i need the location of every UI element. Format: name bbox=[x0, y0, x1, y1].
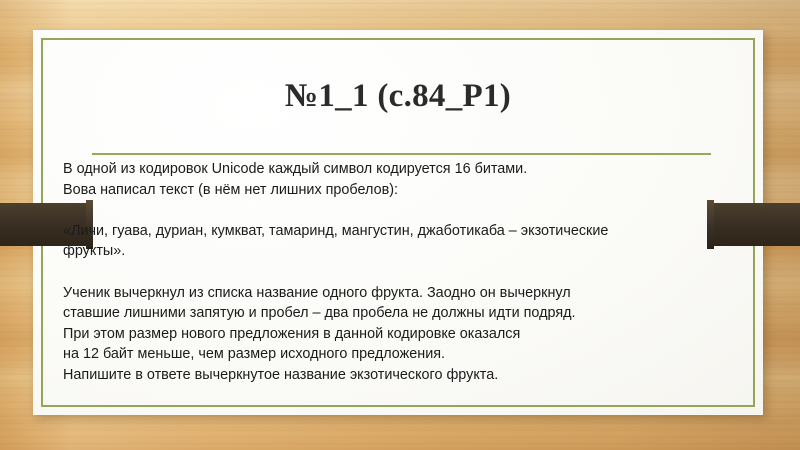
slide-body-text: В одной из кодировок Unicode каждый симв… bbox=[63, 159, 723, 386]
body-line: Напишите в ответе вычеркнутое название э… bbox=[63, 367, 498, 383]
body-line: ставшие лишними запятую и пробел – два п… bbox=[63, 305, 576, 321]
body-line: на 12 байт меньше, чем размер исходного … bbox=[63, 346, 445, 362]
paragraph-quote: «Личи, гуава, дуриан, кумкват, тамаринд,… bbox=[63, 221, 723, 262]
title-divider-rule bbox=[92, 153, 711, 155]
presentation-slide: №1_1 (с.84_Р1) В одной из кодировок Unic… bbox=[0, 0, 800, 450]
slide-title: №1_1 (с.84_Р1) bbox=[60, 76, 736, 116]
body-line: «Личи, гуава, дуриан, кумкват, тамаринд,… bbox=[63, 223, 608, 239]
paragraph-task: Ученик вычеркнул из списка название одно… bbox=[63, 283, 723, 386]
body-line: Вова написал текст (в нём нет лишних про… bbox=[63, 182, 398, 198]
paragraph-intro: В одной из кодировок Unicode каждый симв… bbox=[63, 159, 723, 200]
paragraph-spacer bbox=[63, 262, 723, 283]
paragraph-spacer bbox=[63, 200, 723, 221]
body-line: Ученик вычеркнул из списка название одно… bbox=[63, 285, 571, 301]
body-line: При этом размер нового предложения в дан… bbox=[63, 326, 520, 342]
body-line: В одной из кодировок Unicode каждый симв… bbox=[63, 161, 527, 177]
body-line: фрукты». bbox=[63, 243, 125, 259]
